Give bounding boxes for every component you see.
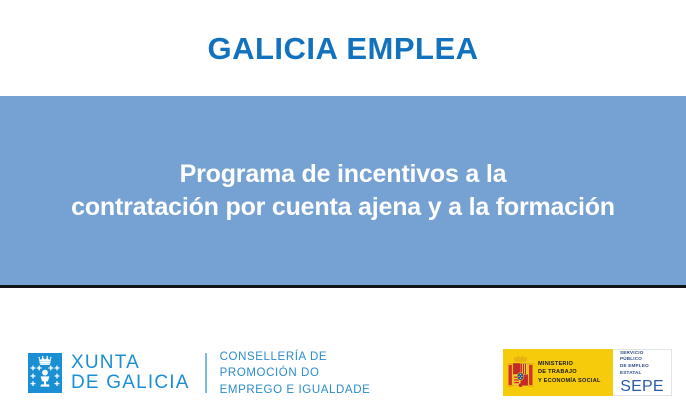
conselleria-line-1: CONSELLERÍA DE xyxy=(220,349,371,365)
conselleria-label: CONSELLERÍA DE PROMOCIÓN DO EMPREGO E IG… xyxy=(220,349,371,398)
sepe-subtitle-line-2: DE EMPLEO ESTATAL xyxy=(620,363,664,376)
title-area: GALICIA EMPLEA xyxy=(0,0,686,96)
conselleria-line-3: EMPREGO E IGUALDADE xyxy=(220,382,371,398)
ministerio-line-2: DE TRABAJO xyxy=(538,368,601,376)
government-logos: MINISTERIO DE TRABAJO Y ECONOMÍA SOCIAL … xyxy=(503,349,672,396)
ministerio-text: MINISTERIO DE TRABAJO Y ECONOMÍA SOCIAL xyxy=(538,360,601,385)
footer-logos: XUNTA DE GALICIA CONSELLERÍA DE PROMOCIÓ… xyxy=(0,288,686,410)
program-banner-line-1: Programa de incentivos a la xyxy=(8,158,678,191)
xunta-de-galicia-logo: XUNTA DE GALICIA CONSELLERÍA DE PROMOCIÓ… xyxy=(28,349,370,398)
program-banner-line-2: contratación por cuenta ajena y a la for… xyxy=(8,191,678,224)
program-banner: Programa de incentivos a la contratación… xyxy=(0,96,686,285)
spain-coat-of-arms-icon xyxy=(507,354,534,392)
sepe-logo: SERVICIO PÚBLICO DE EMPLEO ESTATAL SEPE xyxy=(613,349,672,396)
sepe-wordmark: SEPE xyxy=(620,379,664,395)
sepe-subtitle-line-1: SERVICIO PÚBLICO xyxy=(620,350,664,363)
ministerio-line-1: MINISTERIO xyxy=(538,360,601,368)
program-banner-text: Programa de incentivos a la contratación… xyxy=(0,158,686,224)
xunta-wordmark: XUNTA DE GALICIA xyxy=(71,353,190,393)
ministerio-trabajo-logo: MINISTERIO DE TRABAJO Y ECONOMÍA SOCIAL xyxy=(503,349,613,396)
xunta-wordmark-line-2: DE GALICIA xyxy=(71,373,190,393)
sepe-subtitle: SERVICIO PÚBLICO DE EMPLEO ESTATAL xyxy=(620,350,664,377)
xunta-wordmark-line-1: XUNTA xyxy=(71,353,190,373)
ministerio-line-3: Y ECONOMÍA SOCIAL xyxy=(538,377,601,385)
conselleria-line-2: PROMOCIÓN DO xyxy=(220,365,371,381)
logo-divider xyxy=(205,353,207,393)
galicia-coat-of-arms-icon xyxy=(28,353,62,393)
page-title: GALICIA EMPLEA xyxy=(207,33,478,64)
